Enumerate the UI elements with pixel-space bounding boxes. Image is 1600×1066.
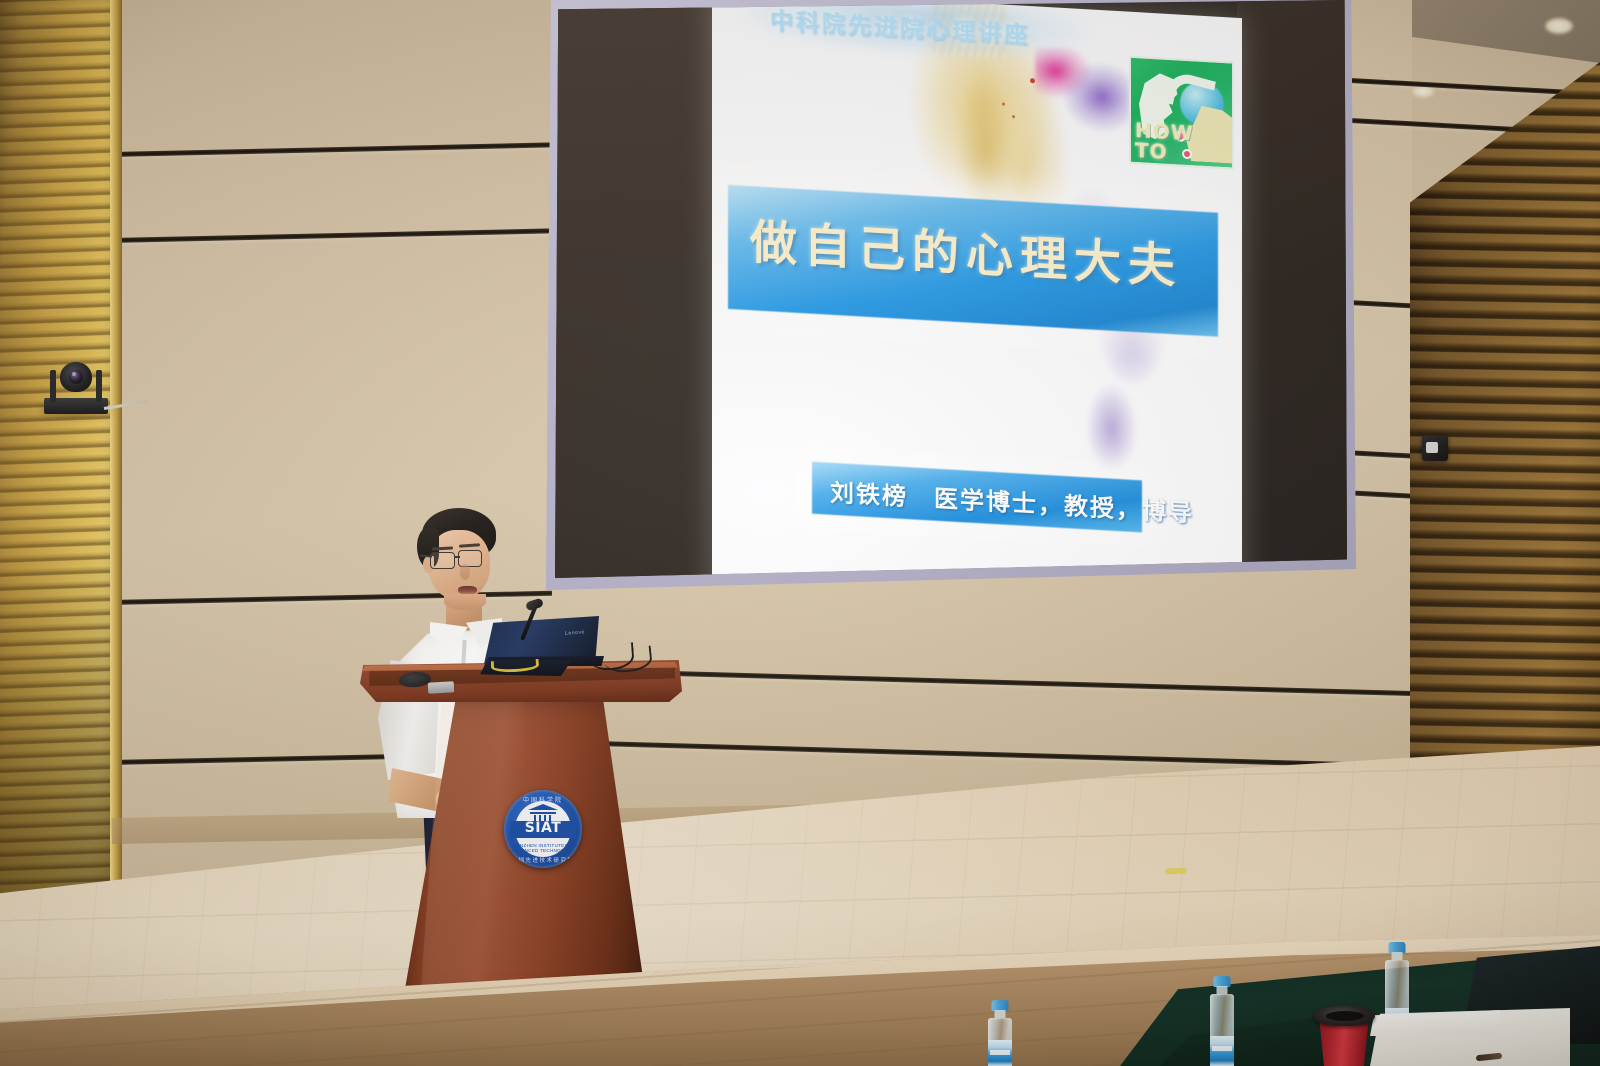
laptop-brand-label: Lenovo: [565, 629, 585, 636]
left-wall-edge: [110, 0, 122, 1005]
screen-surface: HOW TO 中科院先进院心理讲座 做自己的心理大夫 刘铁榜 医学博士，教授，博…: [555, 0, 1347, 578]
cup-body: [1318, 1022, 1370, 1066]
lecture-hall-photo: HOW TO 中科院先进院心理讲座 做自己的心理大夫 刘铁榜 医学博士，教授，博…: [0, 0, 1600, 1066]
siat-emblem: 中国科学院 SIAT SHENZHEN INSTITUTES OF ADVANC…: [504, 790, 582, 868]
podium-control-plate[interactable]: [428, 681, 455, 693]
letterbox-right: [1237, 0, 1347, 578]
projection-screen[interactable]: HOW TO 中科院先进院心理讲座 做自己的心理大夫 刘铁榜 医学博士，教授，博…: [546, 0, 1356, 590]
ptz-camera-icon: [44, 362, 108, 414]
watercolor-dot: [1002, 102, 1005, 105]
coffee-cup[interactable]: [1316, 1006, 1372, 1066]
presentation-slide: HOW TO 中科院先进院心理讲座 做自己的心理大夫 刘铁榜 医学博士，教授，博…: [712, 0, 1242, 578]
camera-arm: [50, 370, 56, 402]
ceiling-downlight-secondary: [1412, 86, 1434, 97]
eyeglasses-lens-left-icon: [430, 552, 455, 569]
how-to-logo: HOW TO: [1129, 56, 1234, 170]
water-bottle[interactable]: [986, 1000, 1014, 1066]
speaker-nose: [460, 564, 470, 580]
logo-label: HOW TO: [1135, 120, 1228, 165]
emblem-acronym: SIAT: [504, 820, 582, 837]
cup-lid-opening: [1326, 1011, 1364, 1021]
camera-arm: [96, 370, 102, 402]
letterbox-left: [555, 0, 715, 578]
watercolor-dot: [1030, 78, 1035, 83]
speaker-chin: [444, 594, 486, 610]
water-bottle[interactable]: [1208, 976, 1236, 1066]
emblem-english-text: SHENZHEN INSTITUTES OF ADVANCED TECHNOLO…: [504, 843, 582, 853]
emblem-chinese-bottom: 深圳先进技术研究院: [504, 856, 582, 864]
wall-speaker-icon: [1422, 435, 1448, 461]
ceiling-downlight: [1545, 18, 1573, 34]
emblem-temple-icon: [530, 807, 556, 821]
camera-lens-icon: [69, 370, 83, 384]
eyeglasses-bridge: [454, 556, 460, 558]
bottle-label: [1210, 1036, 1234, 1066]
bottle-label: [988, 1040, 1012, 1066]
floor-tape-mark: [1165, 867, 1187, 874]
watercolor-dot: [1012, 115, 1015, 118]
